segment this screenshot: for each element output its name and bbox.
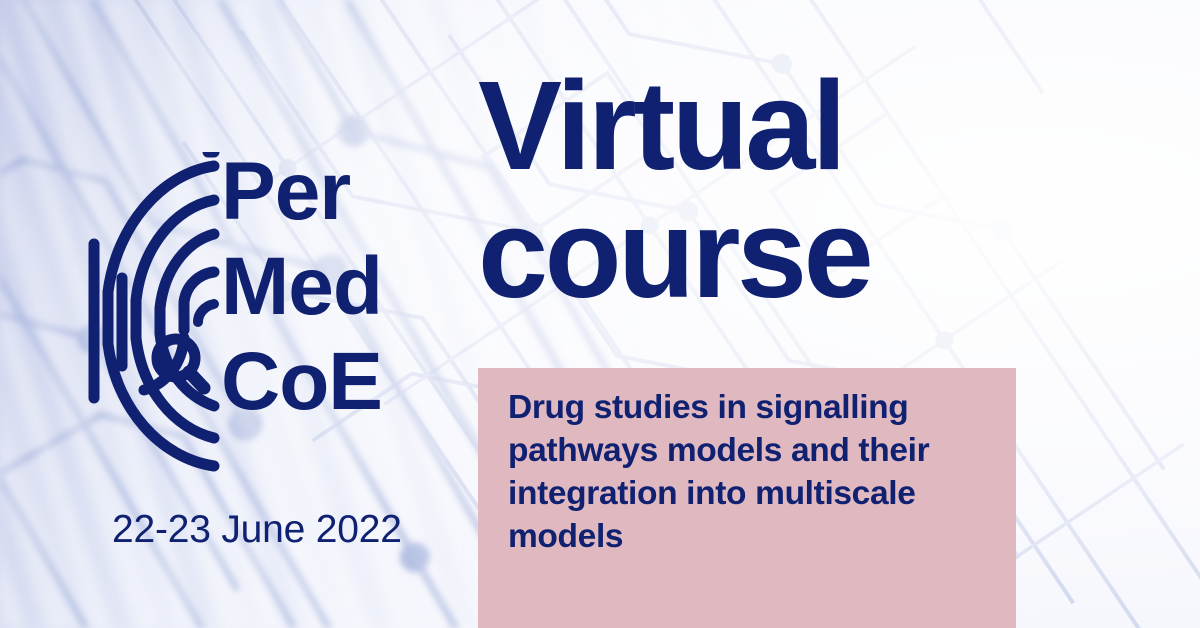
- wordmark-line-per: Per: [221, 144, 436, 239]
- event-date: 22-23 June 2022: [112, 508, 402, 552]
- headline-line-virtual: Virtual: [478, 62, 1018, 190]
- event-banner: Per Med CoE Virtual course Drug studies …: [0, 0, 1200, 628]
- wordmark-line-med: Med: [221, 239, 436, 334]
- wordmark-line-coe: CoE: [221, 334, 436, 429]
- banner-headline: Virtual course: [478, 62, 1018, 318]
- permedcoe-fingerprint-magnifier-logo-icon: [88, 152, 220, 478]
- course-description-panel: Drug studies in signalling pathways mode…: [478, 368, 1016, 628]
- headline-line-course: course: [478, 190, 1018, 318]
- permedcoe-logo: Per Med CoE: [88, 152, 438, 482]
- course-description-text: Drug studies in signalling pathways mode…: [508, 386, 994, 558]
- permedcoe-wordmark: Per Med CoE: [221, 144, 436, 429]
